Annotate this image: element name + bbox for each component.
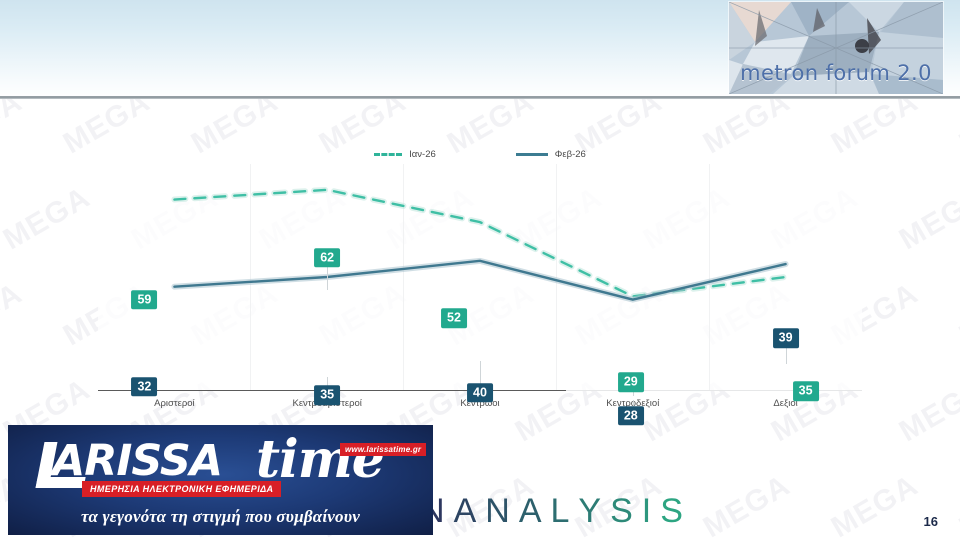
brand-letter: Y: [578, 492, 610, 531]
page-number: 16: [924, 514, 938, 529]
logo-label: metron forum 2.0: [729, 61, 943, 85]
x-label-4: Δεξιοί: [709, 398, 862, 420]
larissatime-strip: ΗΜΕΡΗΣΙΑ ΗΛΕΚΤΡΟΝΙΚΗ ΕΦΗΜΕΡΙΔΑ: [82, 481, 281, 497]
brand-letter: S: [610, 492, 642, 531]
chart-region: Ιαν-26 Φεβ-26 59625229353235402839 Αριστ…: [0, 100, 960, 430]
data-label-Ιαν-26-Κεντρώοι[interactable]: 52: [441, 308, 467, 328]
brand-letter: A: [519, 492, 551, 531]
watermark-text: MEGA: [698, 469, 796, 540]
brand-letter: L: [551, 492, 579, 531]
series-line-2[interactable]: [174, 261, 785, 300]
brand-letter: A: [454, 492, 486, 531]
larissatime-tagline: τα γεγονότα τη στιγμή που συμβαίνουν: [8, 507, 433, 527]
brand-letter: S: [660, 492, 692, 531]
brand-letter: N: [485, 492, 519, 531]
x-label-0: Αριστεροί: [98, 398, 251, 420]
larissatime-logo: ARISSA time www.larissatime.gr ΗΜΕΡΗΣΙΑ …: [8, 425, 433, 535]
watermark-text: MEGA: [826, 469, 924, 540]
metron-forum-logo: metron forum 2.0: [729, 2, 943, 94]
larissatime-url[interactable]: www.larissatime.gr: [340, 443, 426, 456]
data-label-Φεβ-26-Δεξιοί[interactable]: 39: [773, 328, 799, 348]
data-label-Φεβ-26-Αριστεροί[interactable]: 32: [131, 377, 157, 397]
larissatime-name-right: time: [256, 434, 384, 486]
larissatime-name-left: ARISSA: [52, 440, 222, 483]
data-label-Φεβ-26-Κεντρώοι[interactable]: 40: [467, 383, 493, 403]
data-label-Φεβ-26-Κεντροαριστεροί[interactable]: 35: [314, 385, 340, 405]
header-divider: [0, 96, 960, 99]
watermark-text: MEGA: [954, 469, 960, 540]
data-label-Ιαν-26-Δεξιοί[interactable]: 35: [793, 381, 819, 401]
brand-letter: I: [642, 492, 660, 531]
brand-wordmark: NANALYSIS: [420, 492, 692, 531]
data-label-Φεβ-26-Κεντροδεξιοί[interactable]: 28: [618, 406, 644, 426]
data-label-Ιαν-26-Αριστεροί[interactable]: 59: [131, 290, 157, 310]
data-label-Ιαν-26-Κεντροαριστεροί[interactable]: 62: [314, 248, 340, 268]
data-label-Ιαν-26-Κεντροδεξιοί[interactable]: 29: [618, 373, 644, 393]
